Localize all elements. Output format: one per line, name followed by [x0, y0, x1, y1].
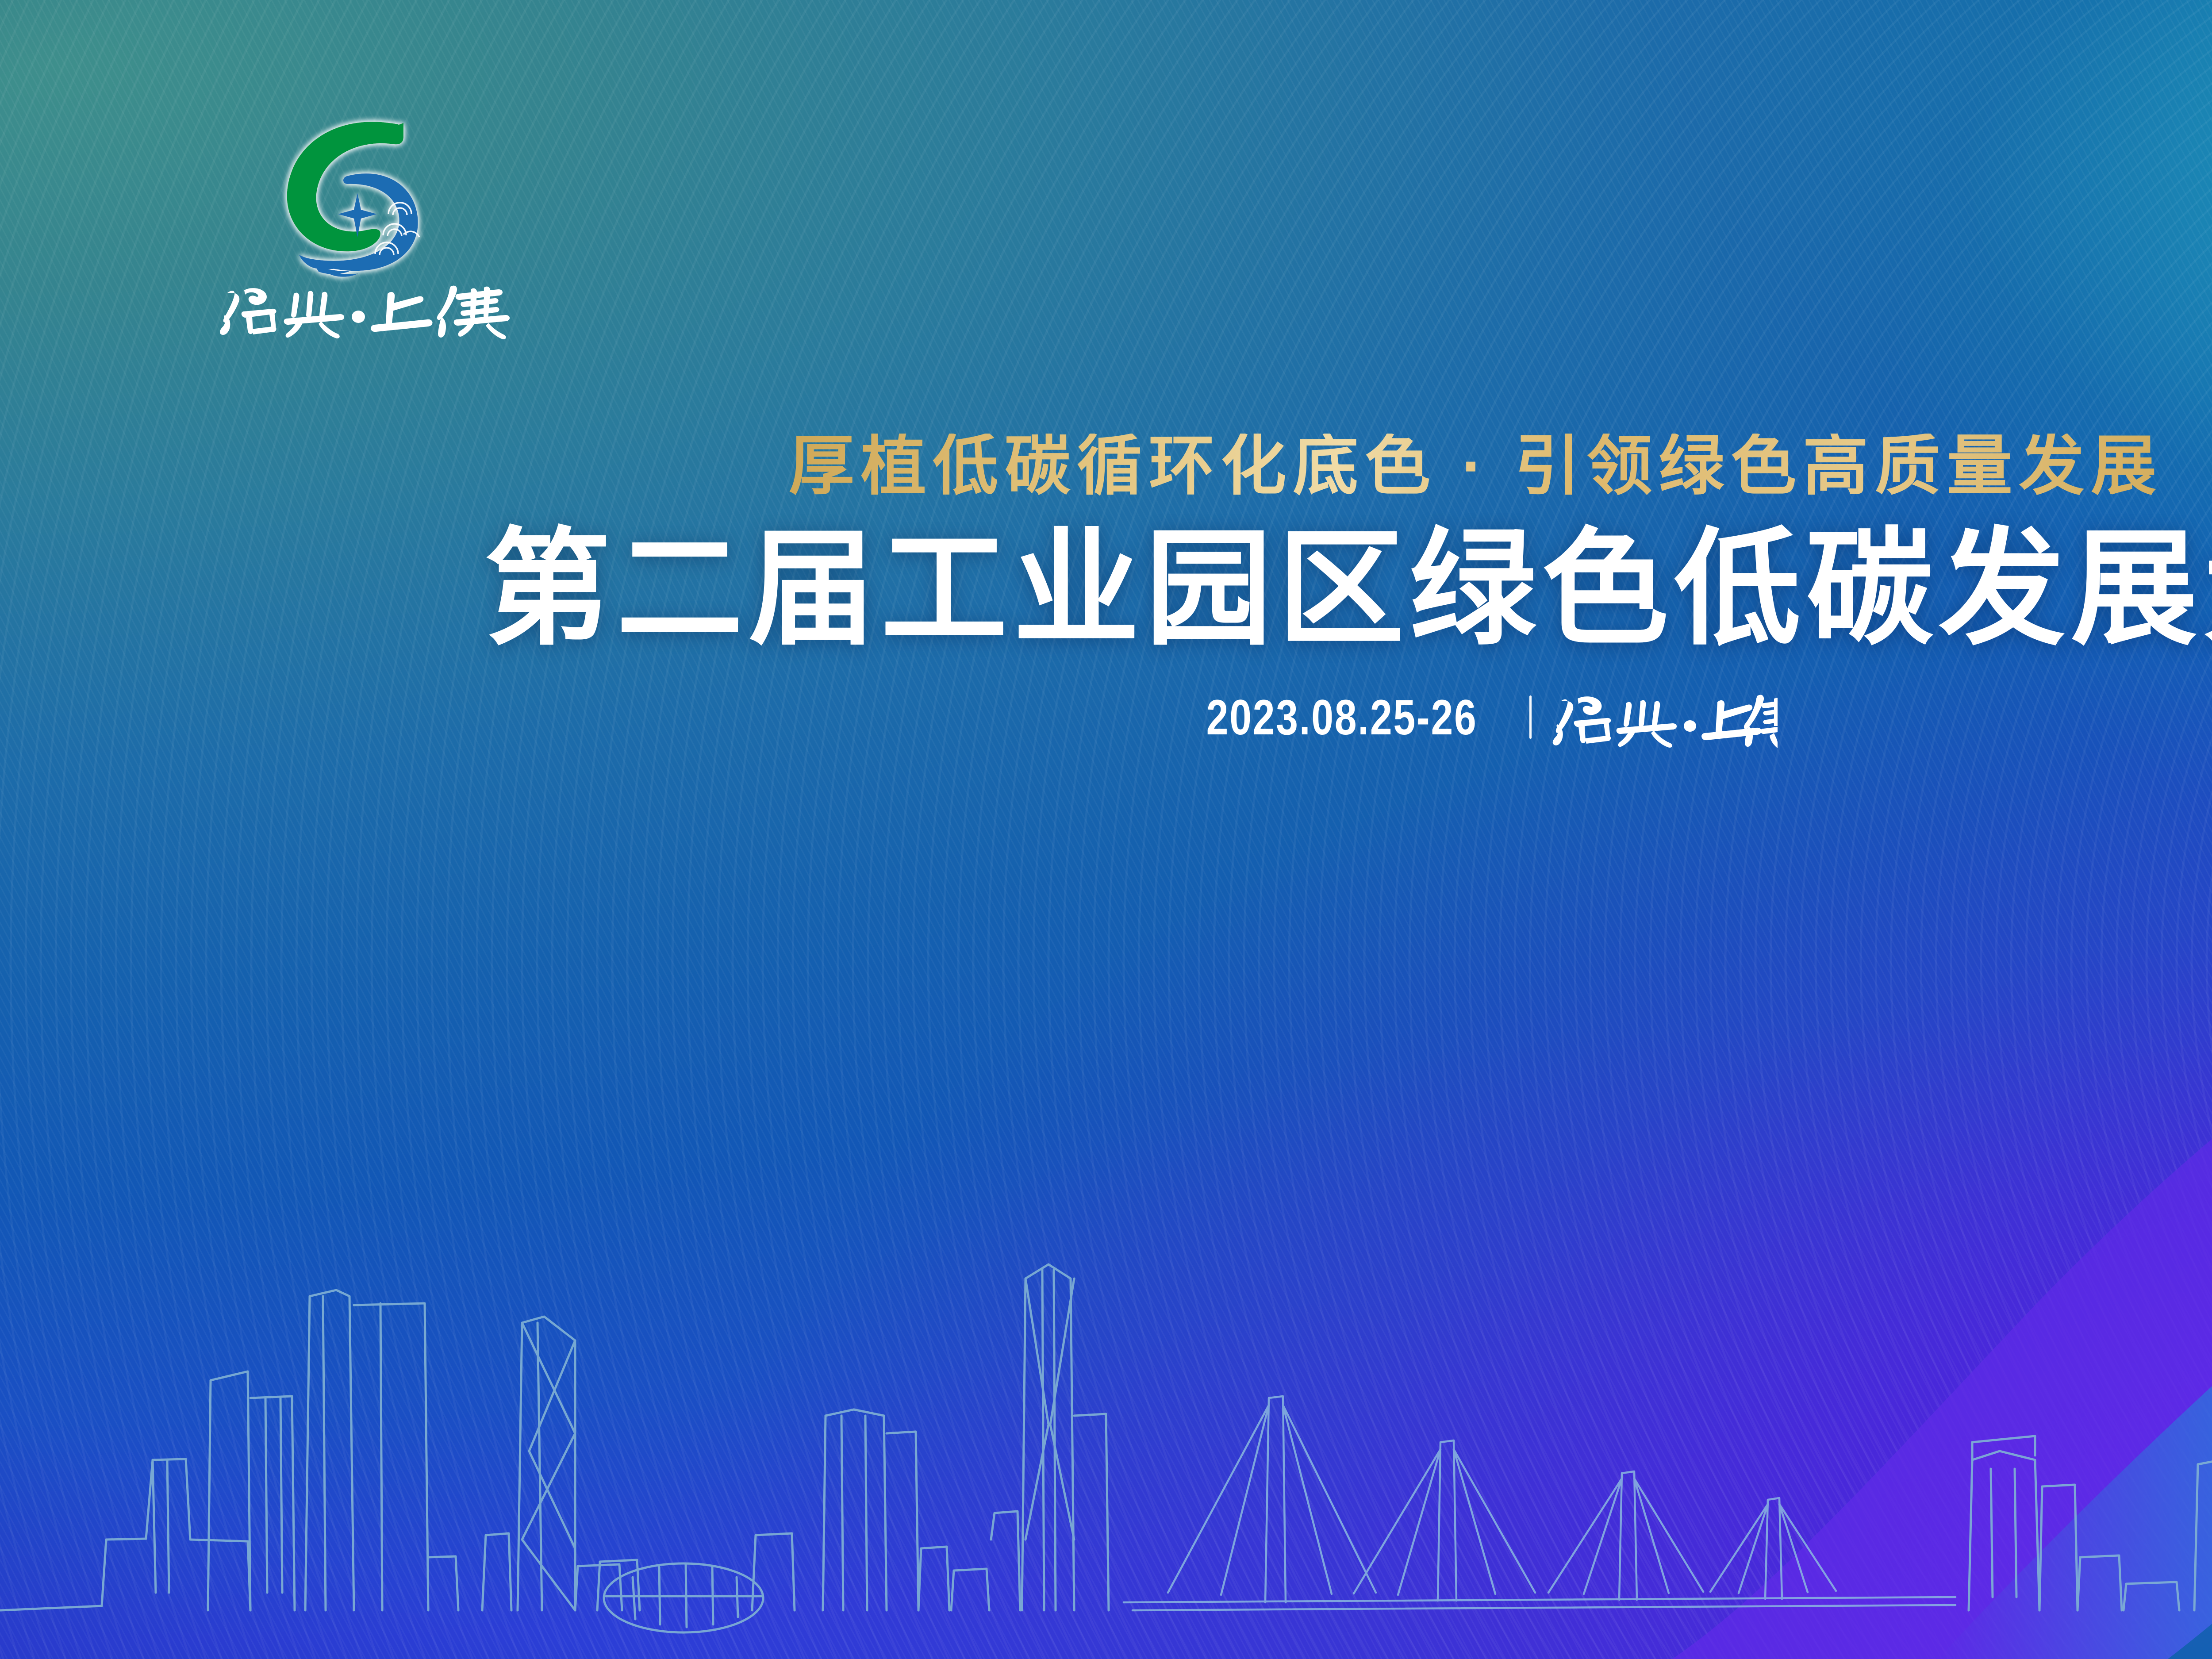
city-skyline-outline	[0, 1150, 2212, 1659]
poster-dateline: 2023.08.25-26	[0, 686, 2212, 748]
event-place-calligraphy	[1549, 686, 1779, 748]
event-date: 2023.08.25-26	[1206, 689, 1478, 746]
poster-text-block: 厚植低碳循环化底色 · 引领绿色高质量发展 第二届工业园区绿色低碳发展大会 20…	[0, 434, 2212, 748]
logo-wordmark-shaoxing-shangyu	[212, 274, 513, 341]
poster-subtitle: 厚植低碳循环化底色 · 引领绿色高质量发展	[789, 434, 2163, 499]
shaoyu-swirl-emblem-icon	[248, 106, 478, 279]
conference-poster: 厚植低碳循环化底色 · 引领绿色高质量发展 第二届工业园区绿色低碳发展大会 20…	[0, 0, 2212, 1659]
shaoxing-shangyu-logo	[212, 106, 513, 354]
poster-main-title: 第二届工业园区绿色低碳发展大会	[0, 522, 2212, 656]
dateline-separator	[1529, 695, 1532, 739]
